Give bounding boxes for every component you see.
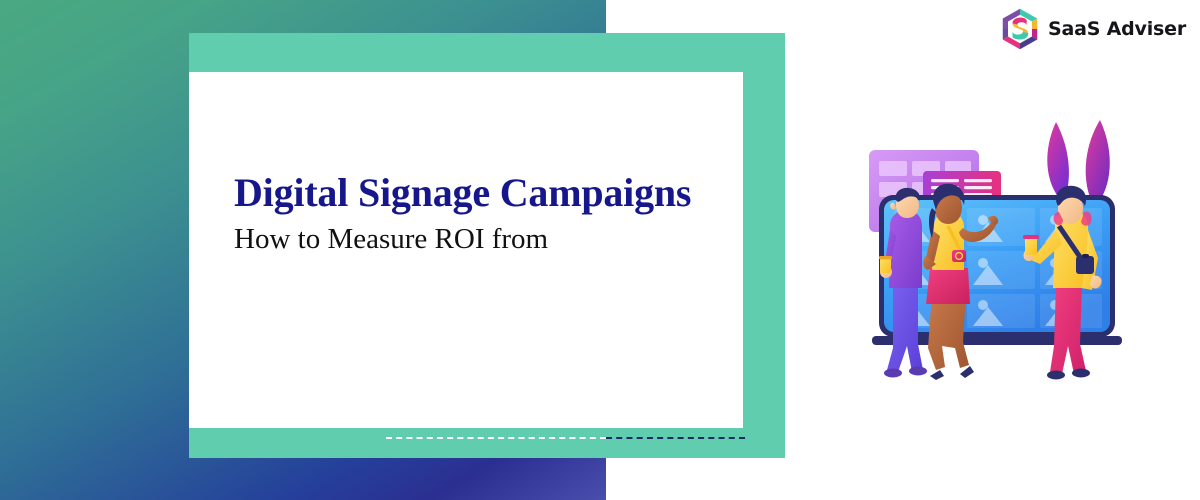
hero-text-block: Digital Signage Campaigns How to Measure… [234, 170, 704, 257]
people-viewing-digital-signage-illustration [860, 108, 1140, 388]
brand-name: SaaS Adviser [1048, 18, 1186, 40]
divider-dashed-right [606, 437, 745, 439]
page-title: Digital Signage Campaigns [234, 170, 704, 216]
page-subtitle: How to Measure ROI from [234, 221, 704, 257]
hero-banner: Digital Signage Campaigns How to Measure… [0, 0, 1200, 500]
saas-adviser-hex-s-logo-icon [1001, 8, 1039, 50]
brand-logo[interactable]: SaaS Adviser [1001, 8, 1186, 50]
leaf-shape-right [1086, 120, 1110, 200]
divider-dashed-left [386, 437, 606, 439]
